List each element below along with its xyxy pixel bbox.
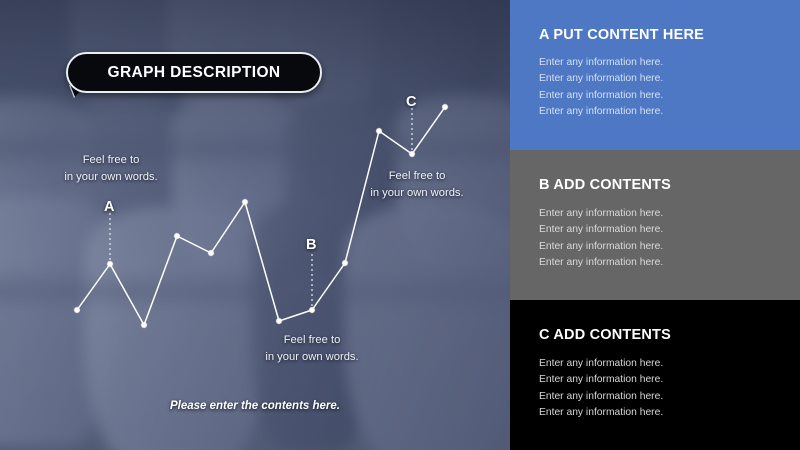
- slide-root: A B C Feel free to in your own words. Fe…: [0, 0, 800, 450]
- list-item: Enter any information here.: [539, 239, 800, 255]
- panel-a[interactable]: A PUT CONTENT HERE Enter any information…: [510, 0, 800, 150]
- annotation-b: Feel free to in your own words.: [247, 332, 377, 366]
- chart-data-point: [141, 322, 146, 327]
- chart-data-point: [342, 260, 347, 265]
- chart-marker-c: C: [406, 94, 416, 110]
- chart-data-points: [74, 104, 447, 327]
- list-item: Enter any information here.: [539, 104, 800, 120]
- page-title: GRAPH DESCRIPTION: [107, 64, 280, 82]
- list-item: Enter any information here.: [539, 55, 800, 71]
- chart-data-point: [107, 261, 112, 266]
- chart-data-point: [208, 250, 213, 255]
- list-item: Enter any information here.: [539, 372, 800, 388]
- chart-callout-leaders: [110, 108, 412, 306]
- annotation-c-line1: Feel free to: [352, 168, 482, 185]
- list-item: Enter any information here.: [539, 356, 800, 372]
- list-item: Enter any information here.: [539, 222, 800, 238]
- panel-b-heading: B ADD CONTENTS: [539, 150, 800, 193]
- chart-data-point: [174, 233, 179, 238]
- graph-description-bubble[interactable]: GRAPH DESCRIPTION: [66, 52, 322, 93]
- chart-data-point: [442, 104, 447, 109]
- panel-a-list: Enter any information here. Enter any in…: [539, 43, 800, 120]
- panel-c[interactable]: C ADD CONTENTS Enter any information her…: [510, 300, 800, 450]
- annotation-a-line1: Feel free to: [46, 152, 176, 169]
- chart-line: [77, 107, 445, 325]
- list-item: Enter any information here.: [539, 405, 800, 421]
- panel-c-heading: C ADD CONTENTS: [539, 300, 800, 343]
- annotation-c: Feel free to in your own words.: [352, 168, 482, 202]
- list-item: Enter any information here.: [539, 389, 800, 405]
- chart-data-point: [309, 307, 314, 312]
- list-item: Enter any information here.: [539, 206, 800, 222]
- list-item: Enter any information here.: [539, 71, 800, 87]
- chart-marker-a: A: [104, 199, 114, 215]
- annotation-a-line2: in your own words.: [46, 169, 176, 186]
- chart-data-point: [74, 307, 79, 312]
- panel-b-list: Enter any information here. Enter any in…: [539, 193, 800, 271]
- annotation-b-line2: in your own words.: [247, 349, 377, 366]
- chart-data-point: [409, 151, 414, 156]
- panel-a-heading: A PUT CONTENT HERE: [539, 0, 800, 43]
- chart-data-point: [276, 318, 281, 323]
- list-item: Enter any information here.: [539, 88, 800, 104]
- chart-marker-b: B: [306, 237, 316, 253]
- chart-data-point: [242, 199, 247, 204]
- content-panels: A PUT CONTENT HERE Enter any information…: [510, 0, 800, 450]
- bottom-caption: Please enter the contents here.: [0, 400, 510, 412]
- annotation-a: Feel free to in your own words.: [46, 152, 176, 186]
- chart-data-point: [376, 128, 381, 133]
- list-item: Enter any information here.: [539, 255, 800, 271]
- panel-b[interactable]: B ADD CONTENTS Enter any information her…: [510, 150, 800, 300]
- panel-c-list: Enter any information here. Enter any in…: [539, 343, 800, 421]
- annotation-c-line2: in your own words.: [352, 185, 482, 202]
- annotation-b-line1: Feel free to: [247, 332, 377, 349]
